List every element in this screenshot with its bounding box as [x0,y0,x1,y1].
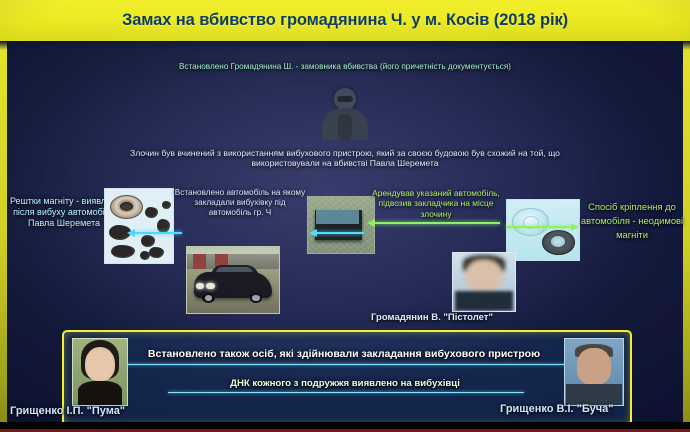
middle-note-text: Злочин був вчинений з використанням вибу… [110,148,580,169]
car-photo-garage-door [193,254,207,270]
person-right-name-caption: Грищенко В.І. "Буча" [500,403,690,416]
man-silhouette-icon [322,88,368,140]
suspect-name-caption: Громадянин В. "Пістолет" [332,312,532,324]
arrow-left-icon [316,232,364,234]
magnet-disc [512,208,549,235]
magnet-attachment-caption: Спосіб кріплення до автомобіля - неодимо… [578,200,686,242]
portrait-body [78,381,121,405]
car-wheel [202,293,215,303]
fragment [140,251,150,260]
man-silhouette-body [322,108,368,140]
photo-bottom-bar [0,422,690,432]
page-title: Замах на вбивство громадянина Ч. у м. Ко… [122,11,568,30]
car-headlight [196,283,204,288]
magnet-ring-fragment [110,195,143,219]
fragment [141,235,155,247]
car-caption: Встановлено автомобіль на якому закладал… [172,188,308,218]
bottom-line-2-text: ДНК кожного з подружжя виявлено на вибух… [150,378,540,390]
slide-left-edge-strip [0,0,7,432]
suspect-portrait-photo [452,252,516,312]
person-left-name-caption: Грищенко І.П. "Пума" [10,405,200,418]
fragment [145,207,158,218]
arrow-right-icon [506,226,572,228]
person-left-portrait-photo [72,338,128,406]
portrait-face [87,350,113,379]
magnet-disc [542,230,576,255]
fragment [149,247,164,258]
portrait-head [577,348,612,385]
fragment [157,219,170,233]
person-right-portrait-photo [564,338,624,406]
bottom-line-1-text: Встановлено також осіб, які здійнювали з… [118,348,570,361]
slide-title-bar: Замах на вбивство громадянина Ч. у м. Ко… [0,0,690,41]
arrow-left-icon [134,232,182,234]
fragment [162,201,171,209]
man-silhouette-head [334,88,356,110]
bottom-line-1-underline [118,364,570,365]
top-note-text: Встановлено Громадянина Ш. - замовника в… [120,62,570,72]
bottom-line-2-underline [168,392,524,393]
car-rental-caption: Арендував указаний автомобіль, підвозив … [368,188,504,219]
portrait-body [455,291,512,311]
magnet-fragments-photo [104,188,174,264]
portrait-head [465,259,502,293]
suspect-car-photo [186,246,280,314]
portrait-body [566,384,622,405]
arrow-left-icon [374,222,500,224]
title-shadow [0,41,690,50]
fragment [111,245,135,258]
explosive-device-photo [307,196,375,254]
neodymium-magnets-photo [506,199,580,261]
car-headlight [206,283,214,288]
device-lid [316,210,360,223]
presentation-slide: Замах на вбивство громадянина Ч. у м. Ко… [0,0,690,432]
